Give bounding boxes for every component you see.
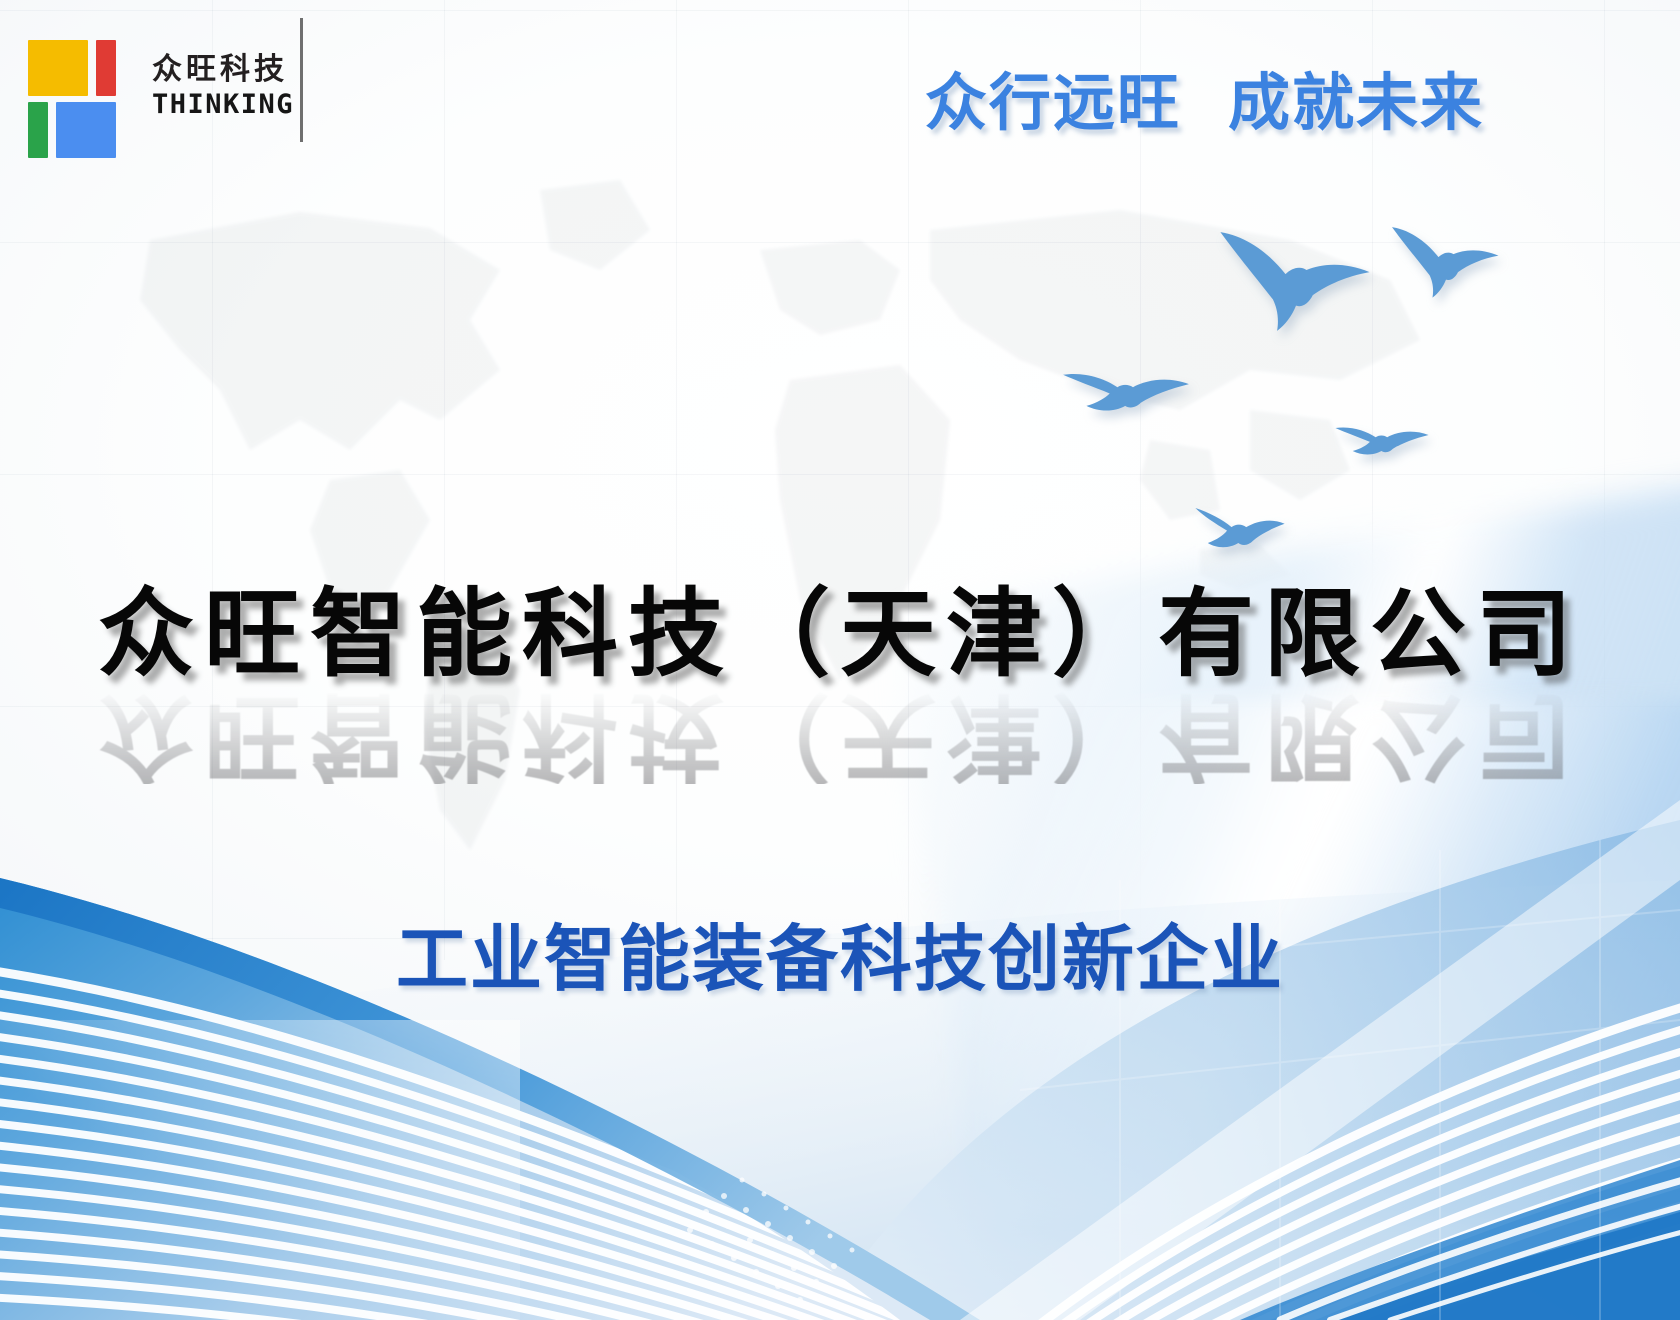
logo-english-name: THINKING — [152, 90, 294, 120]
page-subtitle: 工业智能装备科技创新企业 — [0, 900, 1680, 1005]
logo-square-yellow — [28, 40, 88, 96]
header-slogan: 众行远旺 成就未来 — [925, 52, 1484, 142]
hero-title-block: 众旺智能科技（天津）有限公司 众旺智能科技（天津）有限公司 — [0, 586, 1680, 784]
logo-square-green — [28, 102, 48, 158]
logo-divider-rule — [300, 18, 303, 142]
logo-chinese-name: 众旺科技 — [152, 53, 294, 86]
logo-square-red — [96, 40, 116, 96]
page-title: 众旺智能科技（天津）有限公司 — [0, 586, 1680, 682]
logo-square-blue — [56, 102, 116, 158]
company-logo[interactable]: 众旺科技 THINKING — [28, 28, 294, 140]
logo-wordmark: 众旺科技 THINKING — [152, 49, 294, 120]
bottom-ribbon-graphic — [0, 760, 1680, 1320]
four-square-logo-icon — [28, 28, 126, 140]
slide-canvas: 众旺科技 THINKING 众行远旺 成就未来 — [0, 0, 1680, 1320]
